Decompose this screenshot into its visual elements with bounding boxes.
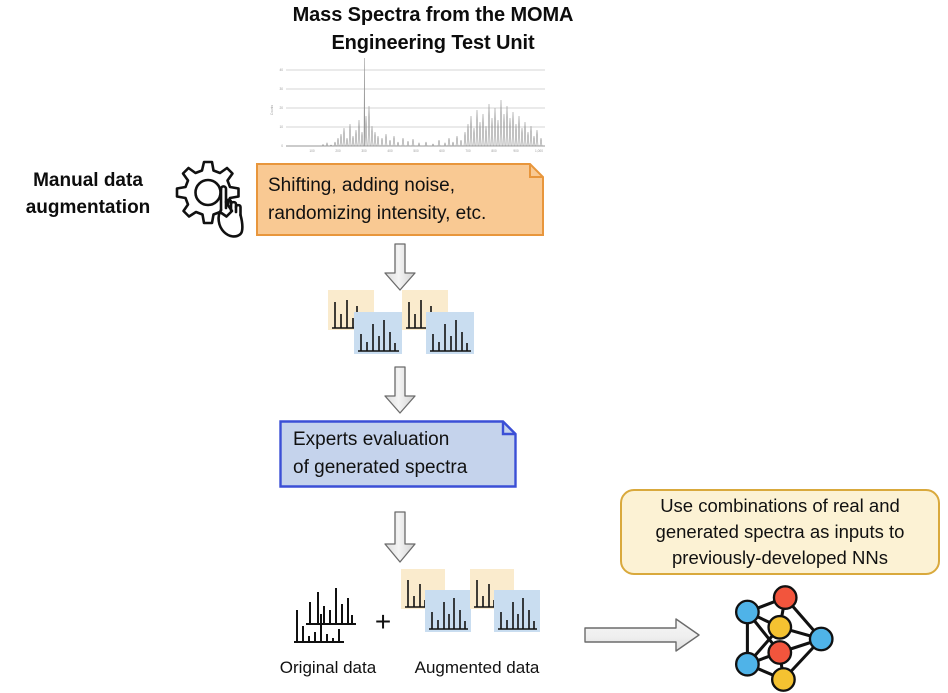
svg-text:500: 500 <box>413 149 419 153</box>
right-arrow <box>584 617 701 653</box>
nn-node-yellow <box>769 616 792 639</box>
manual-augmentation-line-2: augmentation <box>8 195 168 222</box>
page-title: Mass Spectra from the MOMA Engineering T… <box>228 2 638 57</box>
nn-node-blue <box>810 628 833 651</box>
svg-text:300: 300 <box>361 149 367 153</box>
svg-text:Counts: Counts <box>270 105 274 116</box>
svg-text:30: 30 <box>279 87 283 91</box>
svg-text:900: 900 <box>513 149 519 153</box>
nn-node-blue <box>736 653 759 676</box>
svg-text:800: 800 <box>491 149 497 153</box>
svg-text:0: 0 <box>281 144 283 148</box>
mass-spectrum-chart: 40 30 20 10 0 Counts 100 200 300 400 500… <box>262 58 547 163</box>
svg-text:1,000: 1,000 <box>535 149 543 153</box>
plus-sign: + <box>368 608 398 636</box>
augmentation-methods-callout: Shifting, adding noise, randomizing inte… <box>256 163 544 236</box>
down-arrow-3 <box>382 511 418 563</box>
nn-input-callout: Use combinations of real and generated s… <box>620 489 940 575</box>
augmented-data-label: Augmented data <box>404 658 550 678</box>
nn-input-line-1: Use combinations of real and <box>660 493 900 519</box>
nn-node-blue <box>736 601 759 624</box>
svg-text:10: 10 <box>279 125 283 129</box>
experts-evaluation-callout: Experts evaluation of generated spectra <box>279 420 517 488</box>
nn-node-yellow <box>772 668 795 691</box>
svg-text:600: 600 <box>439 149 445 153</box>
nn-input-line-3: previously-developed NNs <box>672 545 888 571</box>
manual-augmentation-line-1: Manual data <box>8 168 168 195</box>
nn-node-red <box>769 641 792 664</box>
nn-input-line-2: generated spectra as inputs to <box>656 519 905 545</box>
page-title-line-1: Mass Spectra from the MOMA <box>228 2 638 30</box>
svg-text:40: 40 <box>279 68 283 72</box>
original-data-spectrum <box>288 582 366 647</box>
svg-text:20: 20 <box>279 106 283 110</box>
neural-network-graphic <box>714 585 842 693</box>
manual-augmentation-label: Manual data augmentation <box>8 168 168 221</box>
svg-text:700: 700 <box>465 149 471 153</box>
augmented-spectra-thumbnails-bottom <box>400 568 540 636</box>
down-arrow-1 <box>382 243 418 291</box>
original-data-label: Original data <box>258 658 398 678</box>
svg-text:400: 400 <box>387 149 393 153</box>
svg-text:100: 100 <box>309 149 315 153</box>
nn-nodes <box>736 586 832 690</box>
down-arrow-2 <box>382 366 418 414</box>
svg-text:200: 200 <box>335 149 341 153</box>
augmented-spectra-thumbnails-middle <box>326 288 476 360</box>
gear-hand-icon <box>166 158 248 244</box>
nn-node-red <box>774 586 797 609</box>
page-title-line-2: Engineering Test Unit <box>228 30 638 58</box>
